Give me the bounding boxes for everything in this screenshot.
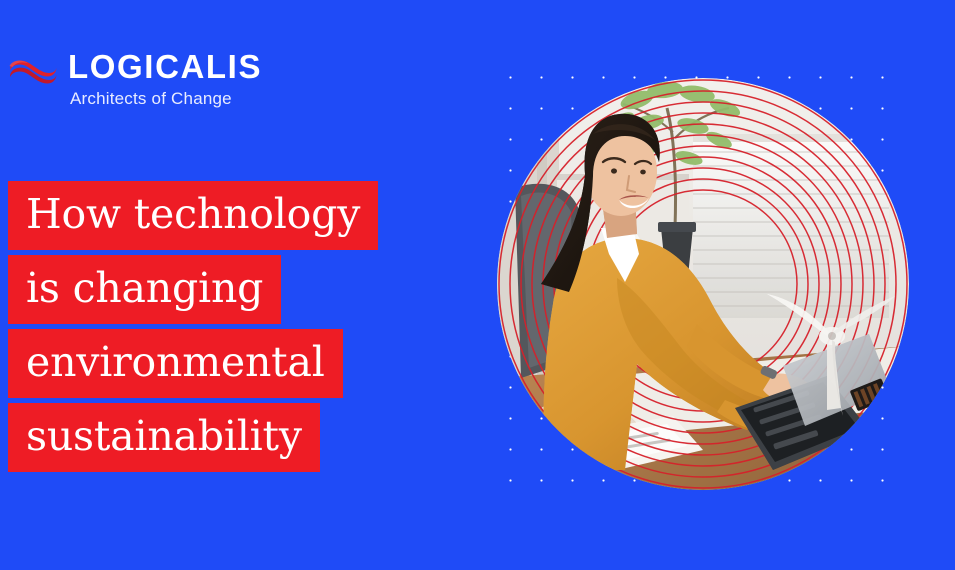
headline-line-2: is changing (8, 255, 281, 324)
hero-photo (497, 78, 909, 490)
brand-lockup: LOGICALIS Architects of Change (8, 50, 262, 110)
hero-photo-illustration (497, 78, 909, 490)
brand-text: LOGICALIS Architects of Change (68, 50, 262, 110)
logicalis-wave-mark-icon (8, 55, 58, 89)
headline-line-4: sustainability (8, 403, 320, 472)
brand-tagline: Architects of Change (70, 88, 262, 110)
promo-banner: LOGICALIS Architects of Change How techn… (0, 0, 955, 570)
headline-line-1: How technology (8, 181, 378, 250)
brand-name: LOGICALIS (68, 50, 262, 84)
headline: How technology is changing environmental… (8, 181, 378, 477)
headline-line-3: environmental (8, 329, 343, 398)
